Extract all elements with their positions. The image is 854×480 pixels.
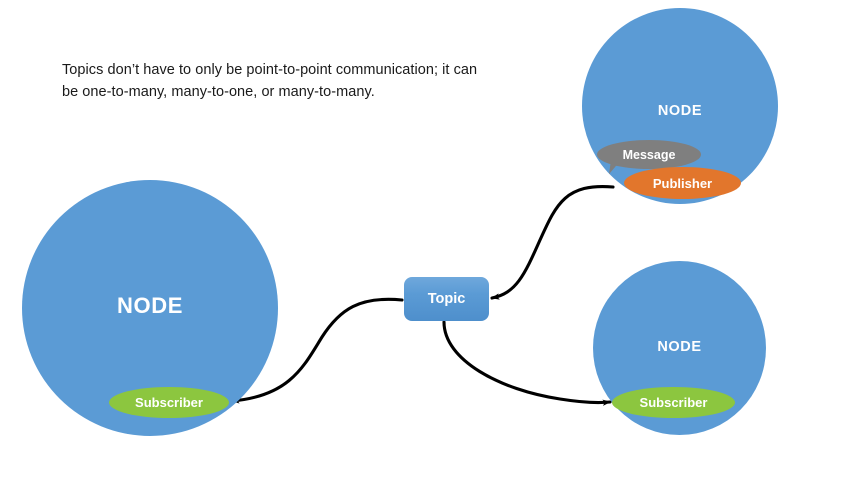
subscriber-pill-right[interactable]: Subscriber <box>612 387 735 418</box>
message-bubble[interactable]: Message <box>597 140 701 169</box>
node-label-bottom-right: NODE <box>593 339 766 355</box>
topic-box[interactable]: Topic <box>404 277 489 321</box>
node-label-left: NODE <box>22 293 278 319</box>
connector-publisher-to-topic <box>492 187 613 298</box>
diagram-canvas: Topics don’t have to only be point-to-po… <box>0 0 854 480</box>
node-label-top-right: NODE <box>582 103 778 119</box>
subscriber-pill-left[interactable]: Subscriber <box>109 387 229 418</box>
caption-text: Topics don’t have to only be point-to-po… <box>62 59 482 103</box>
connector-topic-to-subscriber-right <box>444 322 610 403</box>
publisher-pill[interactable]: Publisher <box>624 167 741 199</box>
